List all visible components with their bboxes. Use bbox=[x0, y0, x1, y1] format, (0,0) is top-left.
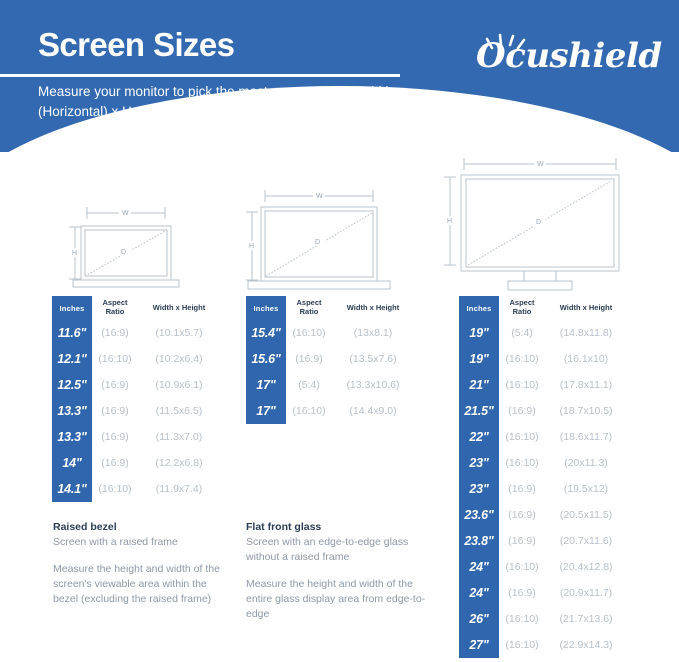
cell-width-height: (11.5x6.5) bbox=[138, 405, 220, 417]
table-row: 23.8"(16:9)(20.7x11.6) bbox=[459, 528, 627, 554]
table-row: 23.6"(16:9)(20.5x11.5) bbox=[459, 502, 627, 528]
cell-width-height: (10.1x5.7) bbox=[138, 327, 220, 339]
cell-inches: 26" bbox=[459, 612, 499, 626]
table-row: 14"(16:9)(12.2x6.8) bbox=[52, 450, 220, 476]
midsize-diagonal-label: D bbox=[315, 239, 320, 246]
cell-width-height: (14.4x9.0) bbox=[332, 405, 414, 417]
cell-aspect-ratio: (16:9) bbox=[286, 353, 332, 365]
table-row: 11.6"(16:9)(10.1x5.7) bbox=[52, 320, 220, 346]
monitor-height-label: H bbox=[447, 218, 452, 225]
cell-inches: 23" bbox=[459, 482, 499, 496]
note-subtitle: Screen with an edge-to-edge glass withou… bbox=[246, 535, 426, 565]
cell-aspect-ratio: (16:9) bbox=[92, 405, 138, 417]
cell-inches: 19" bbox=[459, 326, 499, 340]
cell-aspect-ratio: (16:10) bbox=[499, 379, 545, 391]
laptop-diagonal-label: D bbox=[121, 249, 126, 256]
column-header-width-height: Width x Height bbox=[332, 304, 414, 313]
cell-width-height: (10.9x6.1) bbox=[138, 379, 220, 391]
note-title: Raised bezel bbox=[53, 521, 233, 533]
monitor-diagram: D W H bbox=[428, 148, 654, 294]
table-header-row: InchesAspectRatioWidth x Height bbox=[52, 296, 220, 320]
cell-width-height: (12.2x6.8) bbox=[138, 457, 220, 469]
midsize-width-label: W bbox=[316, 193, 323, 200]
cell-inches: 14.1" bbox=[52, 482, 92, 496]
title-divider bbox=[0, 74, 400, 77]
cell-width-height: (14.8x11.8) bbox=[545, 327, 627, 339]
note-title: Flat front glass bbox=[246, 521, 426, 533]
table-row: 13.3"(16:9)(11.3x7.0) bbox=[52, 424, 220, 450]
cell-width-height: (17.8x11.1) bbox=[545, 379, 627, 391]
cell-width-height: (10.2x6.4) bbox=[138, 353, 220, 365]
cell-inches: 24" bbox=[459, 560, 499, 574]
table-row: 15.4"(16:10)(13x8.1) bbox=[246, 320, 414, 346]
cell-aspect-ratio: (16:10) bbox=[499, 431, 545, 443]
table-row: 12.1"(16:10)(10.2x6.4) bbox=[52, 346, 220, 372]
table-row: 22"(16:10)(18.6x11.7) bbox=[459, 424, 627, 450]
cell-width-height: (19.5x12) bbox=[545, 483, 627, 495]
monitor-diagram-svg: D W H bbox=[428, 148, 654, 294]
cell-inches: 17" bbox=[246, 404, 286, 418]
note-subtitle: Screen with a raised frame bbox=[53, 535, 233, 550]
cell-inches: 14" bbox=[52, 456, 92, 470]
note-flat-front-glass: Flat front glass Screen with an edge-to-… bbox=[246, 521, 426, 622]
logo-wordmark: Ocushield bbox=[476, 36, 662, 76]
table-row: 21"(16:10)(17.8x11.1) bbox=[459, 372, 627, 398]
laptop-diagram: D W H bbox=[55, 196, 235, 292]
cell-inches: 15.4" bbox=[246, 326, 286, 340]
cell-aspect-ratio: (16:9) bbox=[92, 457, 138, 469]
size-table-laptop: InchesAspectRatioWidth x Height11.6"(16:… bbox=[52, 296, 220, 502]
monitor-diagonal-label: D bbox=[536, 219, 541, 226]
cell-aspect-ratio: (5:4) bbox=[499, 327, 545, 339]
cell-width-height: (20.4x12.8) bbox=[545, 561, 627, 573]
cell-inches: 17" bbox=[246, 378, 286, 392]
cell-aspect-ratio: (16:9) bbox=[499, 405, 545, 417]
cell-width-height: (11.3x7.0) bbox=[138, 431, 220, 443]
page-title: Screen Sizes bbox=[38, 28, 234, 63]
table-row: 27"(16:10)(22.9x14.3) bbox=[459, 632, 627, 658]
cell-aspect-ratio: (16:10) bbox=[499, 613, 545, 625]
column-header-aspect-ratio: AspectRatio bbox=[499, 299, 545, 316]
cell-aspect-ratio: (16:10) bbox=[499, 353, 545, 365]
cell-width-height: (18.7x10.5) bbox=[545, 405, 627, 417]
cell-aspect-ratio: (16:9) bbox=[499, 483, 545, 495]
cell-aspect-ratio: (16:10) bbox=[499, 639, 545, 651]
midsize-diagram-svg: D W H bbox=[238, 182, 436, 294]
table-row: 17"(5:4)(13.3x10.6) bbox=[246, 372, 414, 398]
table-row: 24"(16:9)(20.9x11.7) bbox=[459, 580, 627, 606]
table-row: 21.5"(16:9)(18.7x10.5) bbox=[459, 398, 627, 424]
cell-width-height: (13.3x10.6) bbox=[332, 379, 414, 391]
cell-inches: 15.6" bbox=[246, 352, 286, 366]
cell-width-height: (22.9x14.3) bbox=[545, 639, 627, 651]
cell-width-height: (13.5x7.6) bbox=[332, 353, 414, 365]
cell-width-height: (20.9x11.7) bbox=[545, 587, 627, 599]
table-row: 14.1"(16:10)(11.9x7.4) bbox=[52, 476, 220, 502]
cell-width-height: (21.7x13.6) bbox=[545, 613, 627, 625]
midsize-diagram: D W H bbox=[238, 182, 436, 294]
column-header-aspect-ratio: AspectRatio bbox=[92, 299, 138, 316]
cell-width-height: (20x11.3) bbox=[545, 457, 627, 469]
column-header-aspect-ratio: AspectRatio bbox=[286, 299, 332, 316]
cell-aspect-ratio: (16:10) bbox=[286, 405, 332, 417]
cell-inches: 23.8" bbox=[459, 534, 499, 548]
cell-aspect-ratio: (16:9) bbox=[92, 327, 138, 339]
column-header-inches: Inches bbox=[52, 304, 92, 313]
cell-inches: 13.3" bbox=[52, 430, 92, 444]
ocushield-logo: Ocushield bbox=[470, 32, 650, 90]
cell-aspect-ratio: (16:10) bbox=[92, 353, 138, 365]
cell-inches: 12.1" bbox=[52, 352, 92, 366]
size-table-monitor: InchesAspectRatioWidth x Height19"(5:4)(… bbox=[459, 296, 627, 658]
cell-aspect-ratio: (16:9) bbox=[499, 509, 545, 521]
monitor-width-label: W bbox=[537, 161, 544, 168]
cell-width-height: (11.9x7.4) bbox=[138, 483, 220, 495]
cell-aspect-ratio: (5:4) bbox=[286, 379, 332, 391]
table-row: 13.3"(16:9)(11.5x6.5) bbox=[52, 398, 220, 424]
laptop-height-label: H bbox=[72, 250, 77, 257]
cell-inches: 21.5" bbox=[459, 404, 499, 418]
cell-inches: 27" bbox=[459, 638, 499, 652]
cell-inches: 11.6" bbox=[52, 326, 92, 340]
note-body: Measure the height and width of the scre… bbox=[53, 562, 233, 607]
table-row: 23"(16:9)(19.5x12) bbox=[459, 476, 627, 502]
cell-width-height: (13x8.1) bbox=[332, 327, 414, 339]
cell-aspect-ratio: (16:10) bbox=[286, 327, 332, 339]
cell-aspect-ratio: (16:10) bbox=[92, 483, 138, 495]
column-header-width-height: Width x Height bbox=[545, 304, 627, 313]
midsize-height-label: H bbox=[249, 243, 254, 250]
cell-inches: 23.6" bbox=[459, 508, 499, 522]
table-row: 17"(16:10)(14.4x9.0) bbox=[246, 398, 414, 424]
note-raised-bezel: Raised bezel Screen with a raised frame … bbox=[53, 521, 233, 607]
note-body: Measure the height and width of the enti… bbox=[246, 577, 426, 622]
table-row: 15.6"(16:9)(13.5x7.6) bbox=[246, 346, 414, 372]
cell-inches: 19" bbox=[459, 352, 499, 366]
cell-inches: 23" bbox=[459, 456, 499, 470]
laptop-width-label: W bbox=[122, 210, 129, 217]
cell-inches: 13.3" bbox=[52, 404, 92, 418]
size-table-midsize: InchesAspectRatioWidth x Height15.4"(16:… bbox=[246, 296, 414, 424]
cell-aspect-ratio: (16:10) bbox=[499, 457, 545, 469]
column-header-inches: Inches bbox=[246, 304, 286, 313]
cell-aspect-ratio: (16:10) bbox=[499, 561, 545, 573]
cell-inches: 22" bbox=[459, 430, 499, 444]
header-banner: Screen Sizes Measure your monitor to pic… bbox=[0, 0, 679, 152]
cell-inches: 24" bbox=[459, 586, 499, 600]
table-header-row: InchesAspectRatioWidth x Height bbox=[459, 296, 627, 320]
cell-width-height: (16.1x10) bbox=[545, 353, 627, 365]
column-header-inches: Inches bbox=[459, 304, 499, 313]
table-row: 23"(16:10)(20x11.3) bbox=[459, 450, 627, 476]
column-header-width-height: Width x Height bbox=[138, 304, 220, 313]
table-row: 12.5"(16:9)(10.9x6.1) bbox=[52, 372, 220, 398]
screen-sizes-infographic: Screen Sizes Measure your monitor to pic… bbox=[0, 0, 679, 662]
cell-inches: 12.5" bbox=[52, 378, 92, 392]
cell-aspect-ratio: (16:9) bbox=[499, 587, 545, 599]
cell-aspect-ratio: (16:9) bbox=[92, 431, 138, 443]
table-row: 19"(5:4)(14.8x11.8) bbox=[459, 320, 627, 346]
table-row: 24"(16:10)(20.4x12.8) bbox=[459, 554, 627, 580]
cell-width-height: (18.6x11.7) bbox=[545, 431, 627, 443]
laptop-diagram-svg: D W H bbox=[55, 196, 235, 292]
table-row: 26"(16:10)(21.7x13.6) bbox=[459, 606, 627, 632]
cell-aspect-ratio: (16:9) bbox=[499, 535, 545, 547]
cell-width-height: (20.7x11.6) bbox=[545, 535, 627, 547]
cell-aspect-ratio: (16:9) bbox=[92, 379, 138, 391]
cell-width-height: (20.5x11.5) bbox=[545, 509, 627, 521]
table-header-row: InchesAspectRatioWidth x Height bbox=[246, 296, 414, 320]
cell-inches: 21" bbox=[459, 378, 499, 392]
table-row: 19"(16:10)(16.1x10) bbox=[459, 346, 627, 372]
